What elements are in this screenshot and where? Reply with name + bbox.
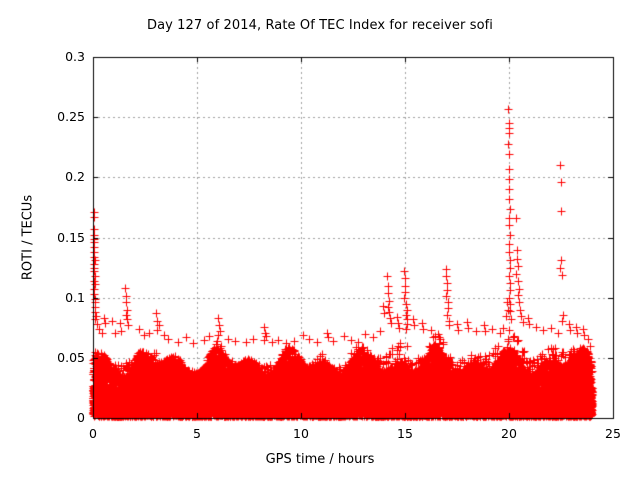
roti-scatter-figure: Day 127 of 2014, Rate Of TEC Index for r… — [0, 0, 640, 480]
plot-canvas — [0, 0, 640, 480]
